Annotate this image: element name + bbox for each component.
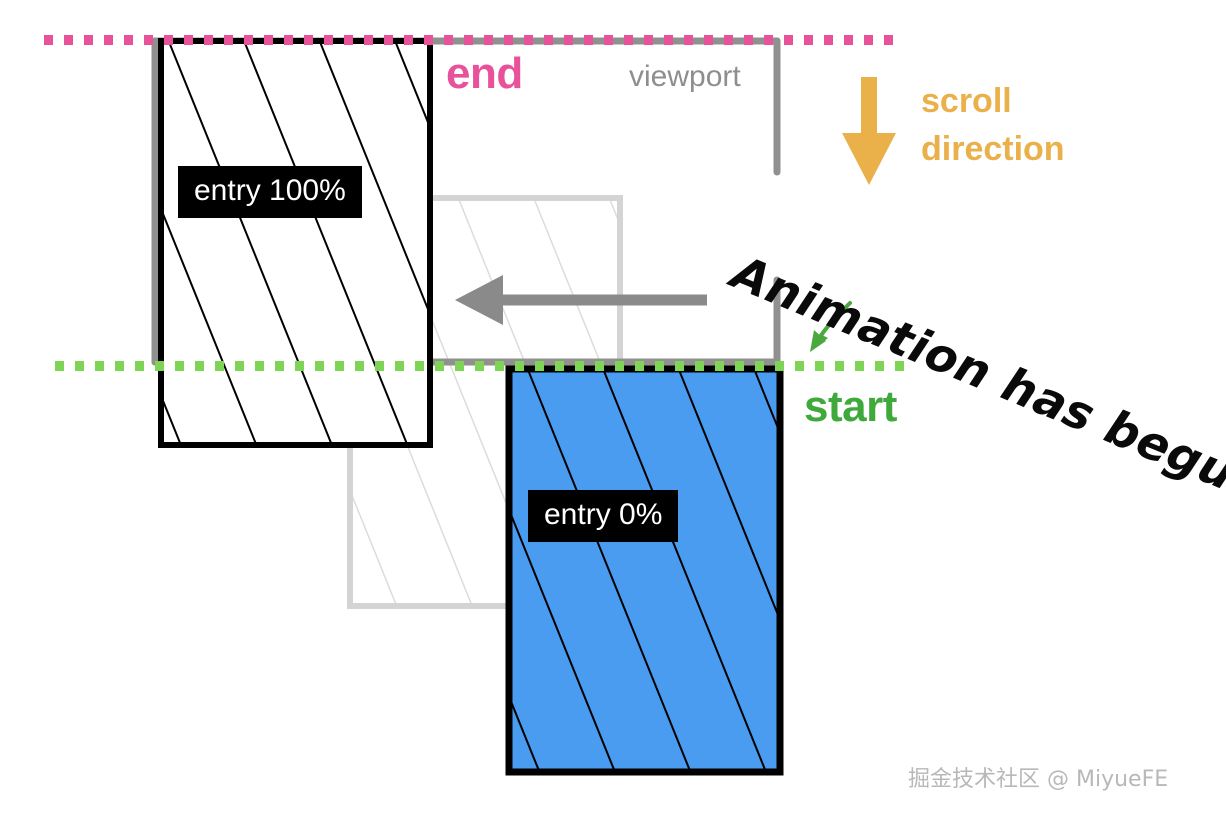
viewport-label: viewport — [629, 62, 741, 92]
direction-label: direction — [921, 132, 1065, 166]
entry-0-block — [509, 369, 780, 772]
watermark-label: 掘金技术社区 @ MiyueFE — [908, 761, 1168, 793]
diagram-canvas: end start viewport scroll direction entr… — [0, 0, 1226, 814]
entry-0-tag: entry 0% — [528, 490, 678, 542]
end-label: end — [446, 52, 523, 96]
entry-100-block — [161, 41, 430, 445]
arrow-down-icon — [842, 77, 896, 185]
start-label: start — [804, 385, 897, 429]
entry-100-tag: entry 100% — [178, 166, 362, 218]
scroll-label: scroll — [921, 84, 1012, 118]
